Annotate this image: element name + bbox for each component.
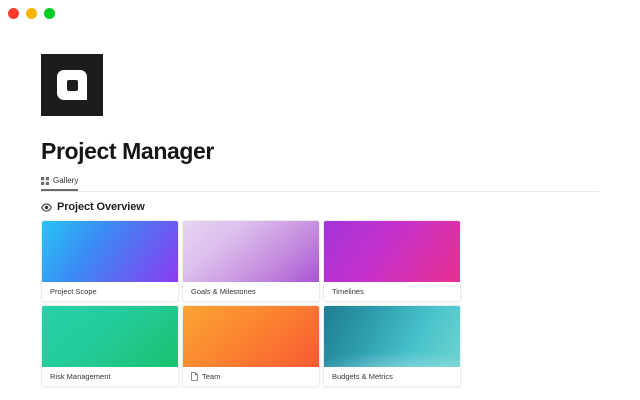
app-window: Project Manager Gallery <box>0 0 640 400</box>
card-cover-image <box>42 221 178 282</box>
page-title[interactable]: Project Manager <box>41 138 599 165</box>
section-title: Project Overview <box>57 201 145 213</box>
card-label-row: Project Scope <box>42 282 178 301</box>
tab-gallery-label: Gallery <box>53 176 78 185</box>
gallery-card-title: Team <box>202 372 220 381</box>
tab-gallery[interactable]: Gallery <box>41 176 78 191</box>
card-cover-image <box>324 221 460 282</box>
card-cover-image <box>42 306 178 367</box>
card-cover-image <box>183 306 319 367</box>
gallery-card-budgets-metrics[interactable]: Budgets & Metrics <box>323 305 461 387</box>
card-label-row: Timelines <box>324 282 460 301</box>
gallery-card-risk-management[interactable]: Risk Management <box>41 305 179 387</box>
gallery-card-title: Timelines <box>332 287 364 296</box>
title-bar <box>0 0 640 26</box>
card-label-row: Risk Management <box>42 367 178 386</box>
gallery-card-title: Goals & Milestones <box>191 287 256 296</box>
gallery-grid-icon <box>41 177 49 185</box>
card-cover-image <box>183 221 319 282</box>
document-icon <box>191 372 198 381</box>
logo-inner-shape <box>57 70 87 100</box>
app-logo-icon[interactable] <box>41 54 103 116</box>
view-tab-bar: Gallery <box>41 175 599 192</box>
traffic-lights <box>8 8 55 19</box>
page-content: Project Manager Gallery <box>0 26 640 400</box>
close-window-button[interactable] <box>8 8 19 19</box>
page-icon-wrap <box>41 26 599 116</box>
card-label-row: Team <box>183 367 319 386</box>
card-label-row: Budgets & Metrics <box>324 367 460 386</box>
gallery-card-goals-milestones[interactable]: Goals & Milestones <box>182 220 320 302</box>
gallery-card-title: Project Scope <box>50 287 97 296</box>
section-header: Project Overview <box>41 201 599 213</box>
card-cover-image <box>324 306 460 367</box>
gallery-card-team[interactable]: Team <box>182 305 320 387</box>
logo-core-shape <box>67 80 78 91</box>
zoom-window-button[interactable] <box>44 8 55 19</box>
gallery-card-title: Budgets & Metrics <box>332 372 393 381</box>
eye-icon <box>41 203 52 212</box>
card-label-row: Goals & Milestones <box>183 282 319 301</box>
gallery-grid: Project Scope Goals & Milestones Timelin… <box>41 220 599 387</box>
gallery-card-project-scope[interactable]: Project Scope <box>41 220 179 302</box>
gallery-card-title: Risk Management <box>50 372 110 381</box>
minimize-window-button[interactable] <box>26 8 37 19</box>
gallery-card-timelines[interactable]: Timelines <box>323 220 461 302</box>
